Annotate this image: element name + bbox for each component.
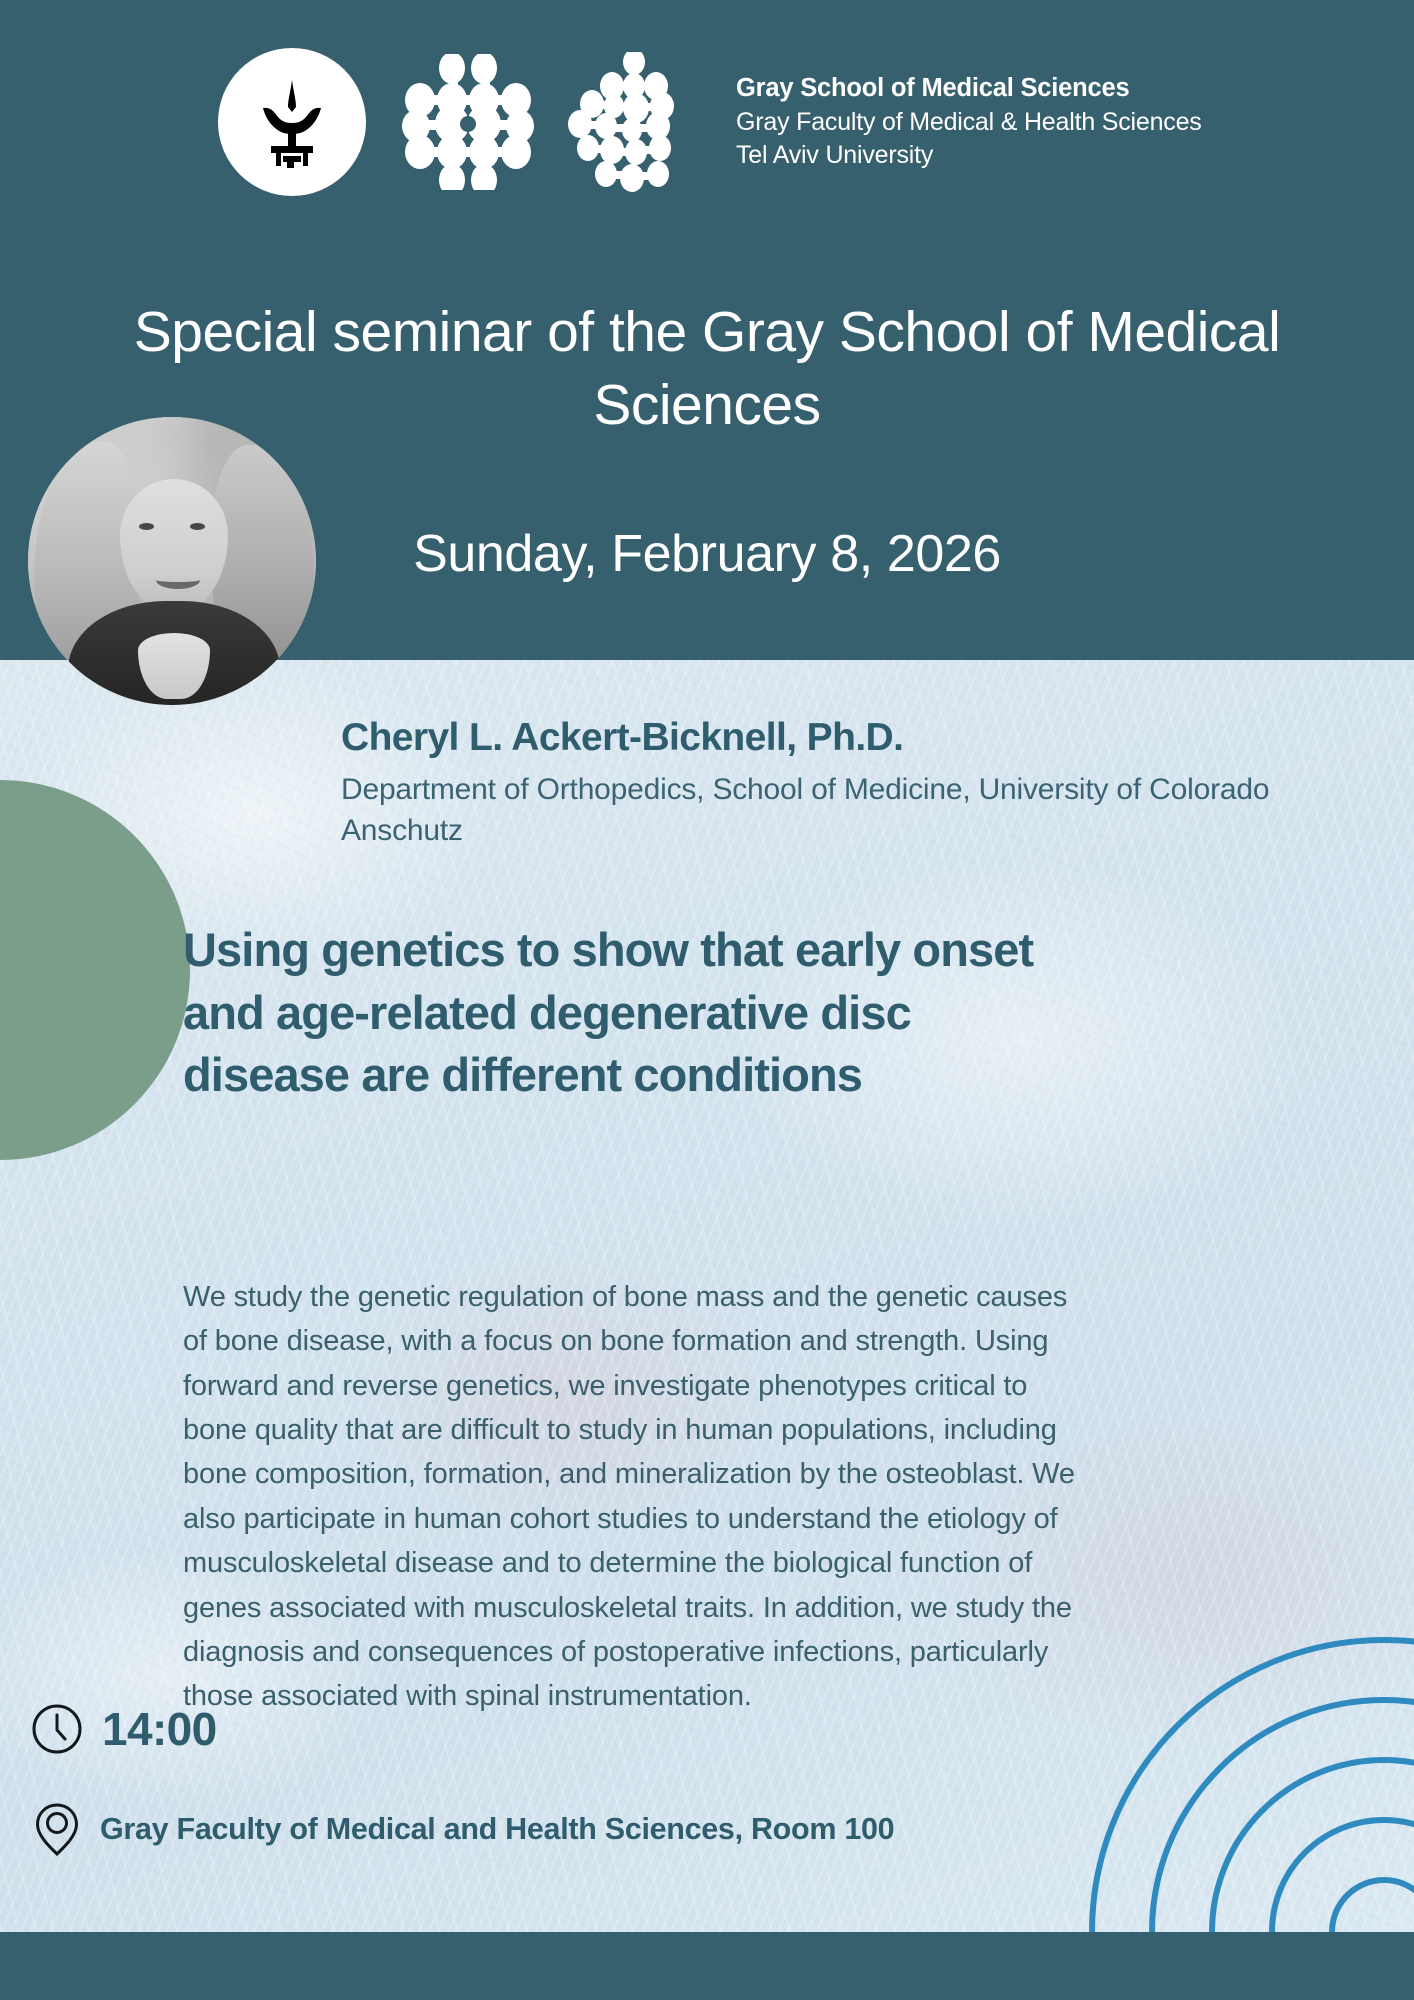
concentric-arcs-decoration xyxy=(1054,1602,1414,1932)
logo-line-faculty: Gray Faculty of Medical & Health Science… xyxy=(736,106,1202,139)
footer-bar xyxy=(0,1932,1414,2000)
speaker-name: Cheryl L. Ackert-Bicknell, Ph.D. xyxy=(341,716,1301,761)
speaker-affiliation: Department of Orthopedics, School of Med… xyxy=(341,769,1301,852)
logo-line-university: Tel Aviv University xyxy=(736,139,1202,172)
emblem-glyph-icon xyxy=(249,74,335,170)
talk-title: Using genetics to show that early onset … xyxy=(183,919,1083,1107)
seminar-poster: Gray School of Medical Sciences Gray Fac… xyxy=(0,0,1414,2000)
molecule-cluster-icon xyxy=(392,54,540,190)
event-time-text: 14:00 xyxy=(102,1702,217,1756)
university-logo: Gray School of Medical Sciences Gray Fac… xyxy=(218,48,1202,196)
location-pin-icon xyxy=(32,1800,82,1858)
speaker-block: Cheryl L. Ackert-Bicknell, Ph.D. Departm… xyxy=(341,716,1301,852)
event-location-row: Gray Faculty of Medical and Health Scien… xyxy=(32,1800,894,1858)
talk-abstract: We study the genetic regulation of bone … xyxy=(183,1275,1095,1719)
portrait-eye-right xyxy=(190,523,205,530)
speaker-portrait xyxy=(28,417,316,705)
green-circle-decoration xyxy=(0,780,190,1160)
logo-text-block: Gray School of Medical Sciences Gray Fac… xyxy=(736,72,1202,172)
molecule-star-icon xyxy=(566,52,692,192)
tel-aviv-university-emblem xyxy=(218,48,366,196)
event-location-text: Gray Faculty of Medical and Health Scien… xyxy=(100,1812,894,1847)
logo-line-school: Gray School of Medical Sciences xyxy=(736,72,1202,106)
clock-icon xyxy=(30,1702,84,1756)
portrait-eye-left xyxy=(139,523,154,530)
portrait-smile xyxy=(156,571,200,589)
event-time-row: 14:00 xyxy=(30,1702,217,1756)
